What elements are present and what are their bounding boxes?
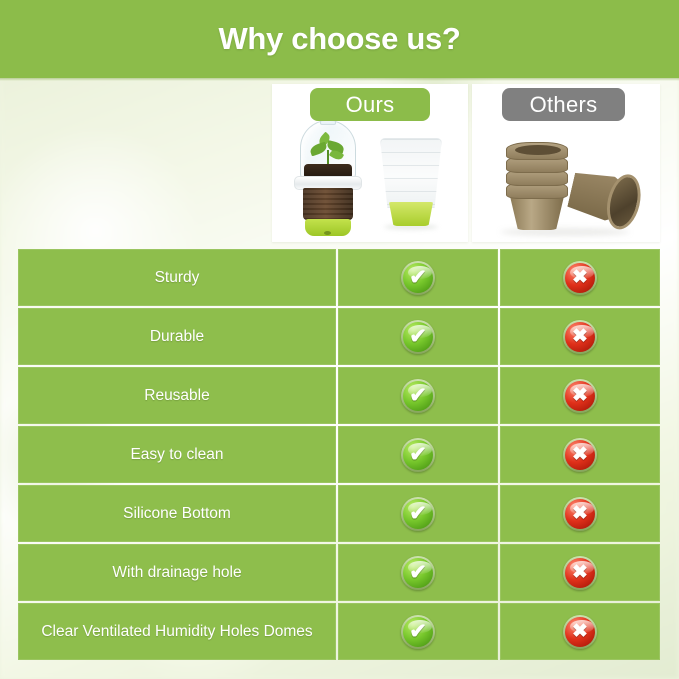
table-cell-others: ✖	[500, 603, 660, 660]
icon-glyph: ✔	[401, 556, 435, 590]
table-cell-others: ✖	[500, 249, 660, 306]
green-check-icon: ✔	[401, 261, 435, 295]
others-image-card: Others	[472, 84, 660, 242]
green-check-icon: ✔	[401, 320, 435, 354]
stacked-pot-green-base	[388, 202, 434, 226]
green-check-icon: ✔	[401, 497, 435, 531]
icon-glyph: ✔	[401, 320, 435, 354]
table-cell-feature: Silicone Bottom	[18, 485, 336, 542]
green-check-icon: ✔	[401, 556, 435, 590]
header-divider	[0, 78, 679, 81]
table-row: Durable✔✖	[18, 308, 660, 365]
icon-glyph: ✖	[563, 379, 597, 413]
red-cross-icon: ✖	[563, 615, 597, 649]
ours-image-card: Ours	[272, 84, 468, 242]
page-title: Why choose us?	[218, 21, 460, 57]
table-cell-feature: Clear Ventilated Humidity Holes Domes	[18, 603, 336, 660]
domed-seedling-pot	[294, 120, 362, 236]
table-row: Clear Ventilated Humidity Holes Domes✔✖	[18, 603, 660, 660]
table-cell-ours: ✔	[338, 249, 498, 306]
table-cell-ours: ✔	[338, 426, 498, 483]
others-column-badge: Others	[502, 88, 625, 121]
green-check-icon: ✔	[401, 615, 435, 649]
icon-glyph: ✔	[401, 379, 435, 413]
icon-glyph: ✖	[563, 438, 597, 472]
table-cell-others: ✖	[500, 426, 660, 483]
red-cross-icon: ✖	[563, 438, 597, 472]
soil-body	[303, 188, 353, 220]
ours-column-label: Ours	[346, 92, 395, 118]
icon-glyph: ✔	[401, 615, 435, 649]
table-cell-feature: Sturdy	[18, 249, 336, 306]
icon-glyph: ✔	[401, 261, 435, 295]
drainage-hole	[324, 231, 331, 235]
icon-glyph: ✖	[563, 556, 597, 590]
table-cell-others: ✖	[500, 544, 660, 601]
table-cell-ours: ✔	[338, 603, 498, 660]
green-check-icon: ✔	[401, 379, 435, 413]
table-row: With drainage hole✔✖	[18, 544, 660, 601]
table-cell-others: ✖	[500, 308, 660, 365]
table-cell-feature: Easy to clean	[18, 426, 336, 483]
table-cell-feature: With drainage hole	[18, 544, 336, 601]
table-cell-ours: ✔	[338, 308, 498, 365]
icon-glyph: ✔	[401, 438, 435, 472]
comparison-table: Sturdy✔✖Durable✔✖Reusable✔✖Easy to clean…	[18, 249, 660, 660]
table-cell-others: ✖	[500, 367, 660, 424]
red-cross-icon: ✖	[563, 320, 597, 354]
comparison-image-row: Ours	[272, 84, 660, 242]
comparison-infographic: Why choose us? Ours	[0, 0, 679, 679]
stacked-pots	[380, 138, 442, 228]
others-column-label: Others	[530, 92, 598, 118]
peat-pot-rim	[506, 142, 568, 160]
icon-glyph: ✖	[563, 497, 597, 531]
table-row: Easy to clean✔✖	[18, 426, 660, 483]
icon-glyph: ✖	[563, 320, 597, 354]
table-cell-ours: ✔	[338, 544, 498, 601]
peat-pot-stack	[506, 142, 568, 230]
red-cross-icon: ✖	[563, 379, 597, 413]
table-row: Silicone Bottom✔✖	[18, 485, 660, 542]
header-banner: Why choose us?	[0, 0, 679, 78]
table-cell-others: ✖	[500, 485, 660, 542]
table-cell-feature: Durable	[18, 308, 336, 365]
table-cell-ours: ✔	[338, 485, 498, 542]
table-row: Reusable✔✖	[18, 367, 660, 424]
tipped-peat-pot	[564, 162, 649, 235]
icon-glyph: ✖	[563, 615, 597, 649]
peat-pot-interior	[515, 145, 561, 155]
red-cross-icon: ✖	[563, 497, 597, 531]
red-cross-icon: ✖	[563, 261, 597, 295]
icon-glyph: ✖	[563, 261, 597, 295]
table-cell-feature: Reusable	[18, 367, 336, 424]
green-check-icon: ✔	[401, 438, 435, 472]
red-cross-icon: ✖	[563, 556, 597, 590]
ours-column-badge: Ours	[310, 88, 430, 121]
table-cell-ours: ✔	[338, 367, 498, 424]
icon-glyph: ✔	[401, 497, 435, 531]
table-row: Sturdy✔✖	[18, 249, 660, 306]
stacked-pot-body	[380, 138, 442, 208]
